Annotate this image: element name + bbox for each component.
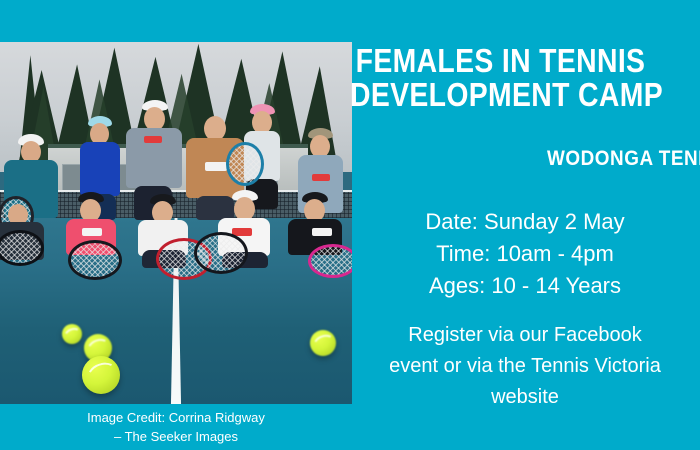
detail-time: Time: 10am - 4pm: [350, 238, 700, 270]
venue-subtitle: WODONGA TENNIS CENTRE: [53, 147, 700, 171]
event-details: Date: Sunday 2 May Time: 10am - 4pm Ages…: [0, 206, 700, 302]
detail-ages: Ages: 10 - 14 Years: [350, 270, 700, 302]
title-line-2: DEVELOPMENT CAMP: [49, 78, 651, 112]
detail-date: Date: Sunday 2 May: [350, 206, 700, 238]
credit-line-2: – The Seeker Images: [0, 427, 352, 446]
poster-title: FEMALES IN TENNIS DEVELOPMENT CAMP: [0, 44, 700, 112]
poster-canvas: FEMALES IN TENNIS DEVELOPMENT CAMP WODON…: [0, 0, 700, 450]
title-line-1: FEMALES IN TENNIS: [49, 44, 651, 78]
text-panel: FEMALES IN TENNIS DEVELOPMENT CAMP WODON…: [352, 0, 700, 450]
divider-container: [352, 120, 700, 140]
registration-info: Register via our Facebook event or via t…: [0, 320, 700, 413]
register-line-3: website: [350, 382, 700, 413]
image-credit: Image Credit: Corrina Ridgway – The Seek…: [0, 404, 352, 446]
credit-line-1: Image Credit: Corrina Ridgway: [0, 408, 352, 427]
register-line-2: event or via the Tennis Victoria: [350, 351, 700, 382]
register-line-1: Register via our Facebook: [350, 320, 700, 351]
